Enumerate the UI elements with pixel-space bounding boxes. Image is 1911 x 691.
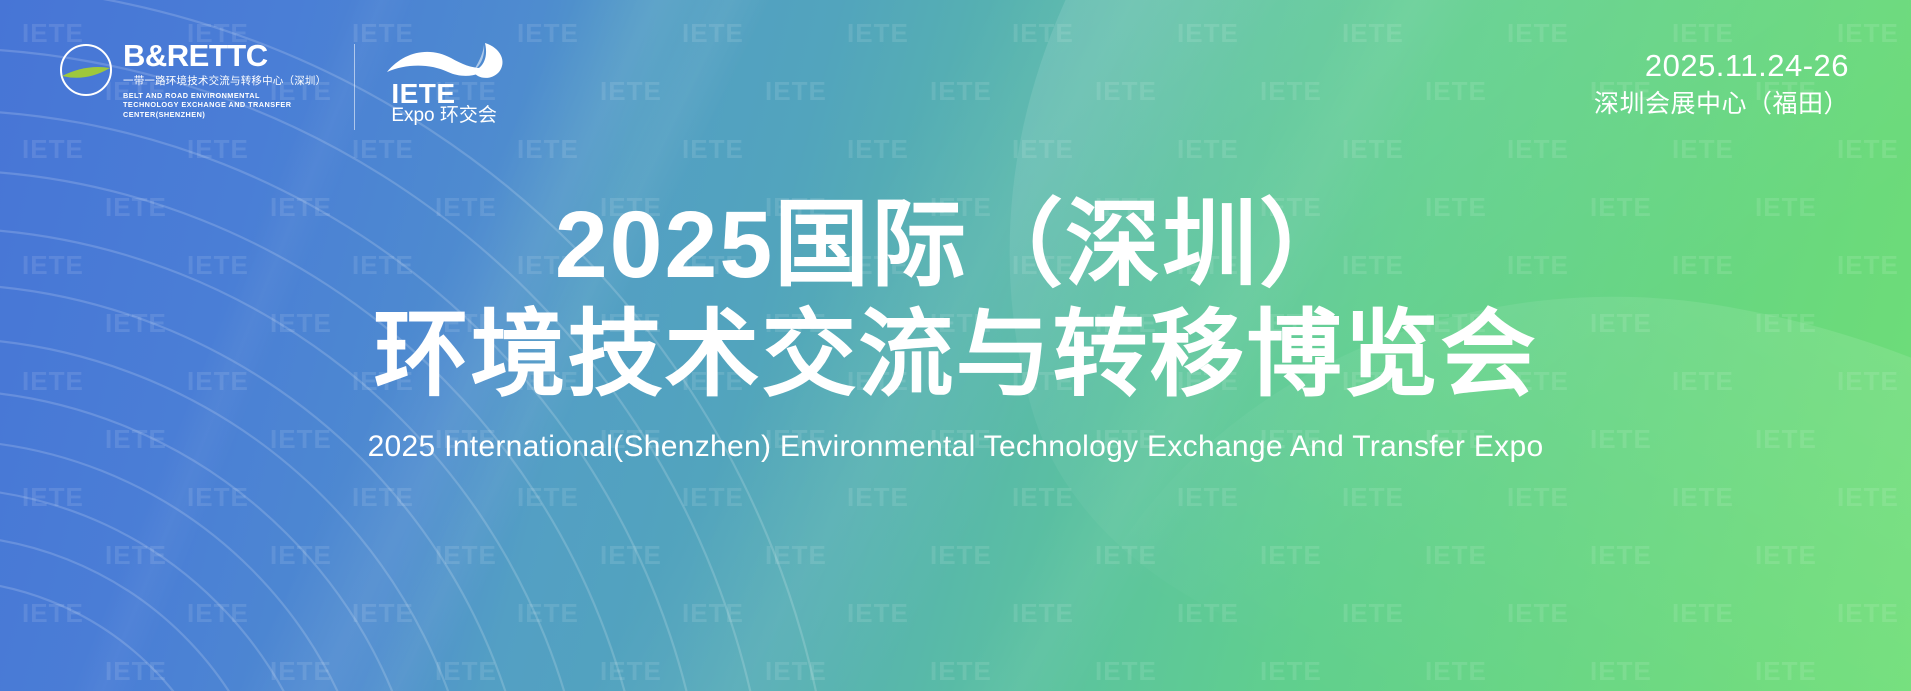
watermark-text: IETE bbox=[1507, 482, 1569, 513]
iete-expo-logo: IETE Expo 环交会 bbox=[385, 38, 517, 130]
banner-header: B&RETTC 一带一路环境技术交流与转移中心（深圳） BELT AND ROA… bbox=[0, 0, 1911, 160]
watermark-text: IETE bbox=[22, 598, 84, 629]
watermark-text: IETE bbox=[270, 656, 332, 687]
iete-wordmark: IETE bbox=[391, 80, 455, 108]
brettc-logo: B&RETTC 一带一路环境技术交流与转移中心（深圳） BELT AND ROA… bbox=[58, 38, 326, 119]
watermark-text: IETE bbox=[1260, 540, 1322, 571]
event-venue: 深圳会展中心（福田） bbox=[1594, 88, 1849, 121]
watermark-text: IETE bbox=[1755, 540, 1817, 571]
watermark-text: IETE bbox=[600, 540, 662, 571]
brettc-chinese-name: 一带一路环境技术交流与转移中心（深圳） bbox=[123, 75, 326, 88]
watermark-text: IETE bbox=[1425, 540, 1487, 571]
title-line-two: 环境技术交流与转移博览会 bbox=[0, 302, 1911, 408]
watermark-text: IETE bbox=[1755, 656, 1817, 687]
watermark-text: IETE bbox=[0, 540, 2, 571]
title-english-subtitle: 2025 International(Shenzhen) Environment… bbox=[0, 427, 1911, 466]
watermark-text: IETE bbox=[435, 656, 497, 687]
watermark-text: IETE bbox=[930, 656, 992, 687]
event-date: 2025.11.24-26 bbox=[1594, 48, 1849, 85]
logo-lockup-group: B&RETTC 一带一路环境技术交流与转移中心（深圳） BELT AND ROA… bbox=[58, 38, 517, 130]
event-info-block: 2025.11.24-26 深圳会展中心（福田） bbox=[1594, 48, 1849, 120]
watermark-text: IETE bbox=[600, 656, 662, 687]
watermark-text: IETE bbox=[1672, 598, 1734, 629]
watermark-text: IETE bbox=[187, 598, 249, 629]
watermark-text: IETE bbox=[1342, 598, 1404, 629]
iete-subtitle: Expo 环交会 bbox=[391, 106, 497, 125]
watermark-text: IETE bbox=[1837, 598, 1899, 629]
watermark-text: IETE bbox=[517, 598, 579, 629]
watermark-text: IETE bbox=[270, 540, 332, 571]
watermark-text: IETE bbox=[765, 540, 827, 571]
logo-divider bbox=[354, 44, 355, 130]
watermark-text: IETE bbox=[1590, 540, 1652, 571]
watermark-text: IETE bbox=[1095, 656, 1157, 687]
watermark-text: IETE bbox=[1095, 540, 1157, 571]
watermark-text: IETE bbox=[187, 482, 249, 513]
watermark-text: IETE bbox=[847, 482, 909, 513]
watermark-text: IETE bbox=[1177, 598, 1239, 629]
watermark-text: IETE bbox=[1425, 656, 1487, 687]
watermark-text: IETE bbox=[1012, 598, 1074, 629]
watermark-text: IETE bbox=[517, 482, 579, 513]
brettc-english-name: BELT AND ROAD ENVIRONMENTAL TECHNOLOGY E… bbox=[123, 91, 299, 120]
watermark-text: IETE bbox=[352, 598, 414, 629]
brettc-wordmark: B&RETTC bbox=[123, 40, 326, 71]
watermark-text: IETE bbox=[1507, 598, 1569, 629]
watermark-text: IETE bbox=[765, 656, 827, 687]
globe-emblem-icon bbox=[58, 42, 114, 98]
watermark-text: IETE bbox=[352, 482, 414, 513]
watermark-text: IETE bbox=[847, 598, 909, 629]
watermark-text: IETE bbox=[1177, 482, 1239, 513]
watermark-text: IETE bbox=[930, 540, 992, 571]
watermark-text: IETE bbox=[1012, 482, 1074, 513]
main-title-block: 2025国际（深圳） 环境技术交流与转移博览会 2025 Internation… bbox=[0, 192, 1911, 466]
event-banner: IETEIETEIETEIETEIETEIETEIETEIETEIETEIETE… bbox=[0, 0, 1911, 691]
watermark-text: IETE bbox=[1837, 482, 1899, 513]
watermark-text: IETE bbox=[105, 540, 167, 571]
title-line-one: 2025国际（深圳） bbox=[0, 192, 1911, 298]
watermark-text: IETE bbox=[22, 482, 84, 513]
watermark-text: IETE bbox=[1342, 482, 1404, 513]
watermark-text: IETE bbox=[435, 540, 497, 571]
brettc-text-group: B&RETTC 一带一路环境技术交流与转移中心（深圳） BELT AND ROA… bbox=[123, 38, 326, 119]
watermark-text: IETE bbox=[1590, 656, 1652, 687]
watermark-text: IETE bbox=[682, 482, 744, 513]
watermark-text: IETE bbox=[1260, 656, 1322, 687]
watermark-text: IETE bbox=[682, 598, 744, 629]
watermark-text: IETE bbox=[105, 656, 167, 687]
watermark-text: IETE bbox=[1672, 482, 1734, 513]
watermark-text: IETE bbox=[0, 656, 2, 687]
